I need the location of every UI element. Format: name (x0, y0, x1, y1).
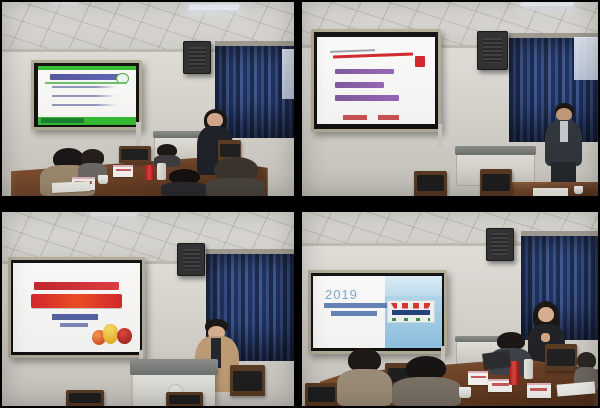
slide-bullet-2 (335, 82, 384, 87)
slide-date-line (60, 323, 88, 327)
slide-footer-text (41, 118, 84, 123)
slide-title-line-2 (331, 311, 377, 316)
ceiling-light-panel (188, 4, 239, 10)
meeting-room-scene-tl (2, 2, 294, 196)
water-cup-tr (574, 186, 583, 194)
collage-panel-top-left[interactable] (2, 2, 294, 196)
attendee-br-1 (340, 348, 387, 406)
tablet-br (482, 350, 511, 369)
projection-screen-tl[interactable] (31, 60, 142, 130)
slide-divider (45, 82, 127, 84)
window-pane-tl (282, 49, 294, 99)
slide-presenter-line (52, 314, 98, 319)
fruit-image-2 (103, 324, 118, 344)
projection-screen-bl[interactable] (8, 257, 145, 358)
wall-speaker-bl (177, 243, 205, 276)
screen-mount-arm (136, 122, 141, 145)
chair-br-2 (545, 344, 578, 371)
attendee-tl-3 (163, 169, 207, 196)
name-card-text (492, 383, 509, 386)
name-card-br-1 (468, 371, 489, 385)
white-bottle-br (524, 359, 533, 378)
slide-title-2019: 2019 (313, 276, 441, 348)
chair-tr-1 (414, 171, 447, 196)
attendee-torso (337, 369, 392, 406)
collage-panel-bottom-right[interactable]: 2019 (302, 212, 598, 406)
slide-thin-rule (330, 50, 375, 53)
meeting-room-scene-tr (302, 2, 598, 196)
wall-speaker-tr (477, 31, 509, 70)
projection-screen-br[interactable]: 2019 (308, 270, 447, 354)
attendee-br-2 (397, 356, 456, 406)
crowd-dots (392, 318, 431, 321)
presenter-hands (541, 333, 550, 341)
ceiling-light-panel (89, 212, 137, 216)
slide-body-text (52, 86, 117, 111)
collage-panel-top-right[interactable] (302, 2, 598, 196)
slide-bullet-1 (335, 69, 394, 74)
name-card-text (530, 388, 547, 391)
name-card-text (116, 169, 131, 171)
projection-screen-tr[interactable] (311, 29, 441, 132)
fruit-image-3 (117, 328, 132, 345)
slide-red-agenda (317, 37, 434, 124)
ceiling-light-panel (520, 2, 574, 6)
chair-bl-1 (66, 390, 104, 406)
notebook-tr (533, 188, 569, 196)
slide-top-bar (38, 66, 136, 71)
attendee-torso (392, 377, 461, 406)
meeting-room-scene-bl (2, 212, 294, 406)
slide-title-2018 (13, 263, 139, 352)
wall-speaker-br (486, 228, 515, 261)
water-cup-tl (98, 175, 108, 185)
chair-tr-2 (480, 169, 513, 196)
water-cup-br-1 (459, 387, 471, 399)
screen-mount-arm (438, 124, 442, 147)
name-card-tl-1 (113, 165, 133, 177)
window-pane-tr (574, 37, 598, 80)
presenter-head (538, 307, 553, 322)
attendee-hair (577, 352, 596, 369)
slide-green-overview (38, 66, 136, 125)
banner-text-strip (392, 310, 431, 315)
attendee-torso (206, 178, 265, 196)
red-thermos-tl (145, 165, 154, 181)
slide-heading (50, 74, 120, 80)
slide-org-line (34, 282, 120, 290)
chair-bl-2 (166, 392, 204, 406)
slide-logo-mark (415, 56, 426, 66)
attendee-tl-4 (209, 157, 262, 196)
slide-footer-right (378, 115, 399, 119)
curtain-rail (206, 249, 294, 254)
banner-decoration (391, 303, 432, 309)
slide-main-title (31, 294, 122, 308)
attendee-torso (161, 182, 208, 196)
collage-panel-bottom-left[interactable] (2, 212, 294, 406)
slide-title-line-1 (324, 303, 388, 308)
name-card-text (471, 376, 486, 379)
photo-collage: 2019 (0, 0, 600, 408)
meeting-room-scene-br: 2019 (302, 212, 598, 406)
slide-year-label: 2019 (325, 288, 358, 301)
white-bottle-tl (157, 163, 166, 180)
slide-red-rule (333, 52, 413, 58)
slide-bullet-3 (335, 95, 400, 100)
chair-tl-1 (119, 146, 151, 163)
presenter-shirt (560, 121, 568, 141)
slide-photo-thumbnail (387, 300, 435, 324)
slide-footer-left (343, 115, 366, 119)
slide-sky-highlight (385, 276, 441, 296)
podium-surface (130, 359, 218, 375)
curtain-rail (521, 231, 598, 236)
name-card-br-3 (527, 383, 551, 399)
curtain-rail (215, 41, 294, 46)
wall-speaker-tl (183, 41, 211, 74)
chair-br-3 (305, 383, 338, 406)
ceiling-light-panel (51, 2, 78, 5)
slide-bottom-bar (38, 117, 136, 125)
cabinet-lid (455, 146, 537, 155)
chair-bl-3 (230, 365, 265, 396)
